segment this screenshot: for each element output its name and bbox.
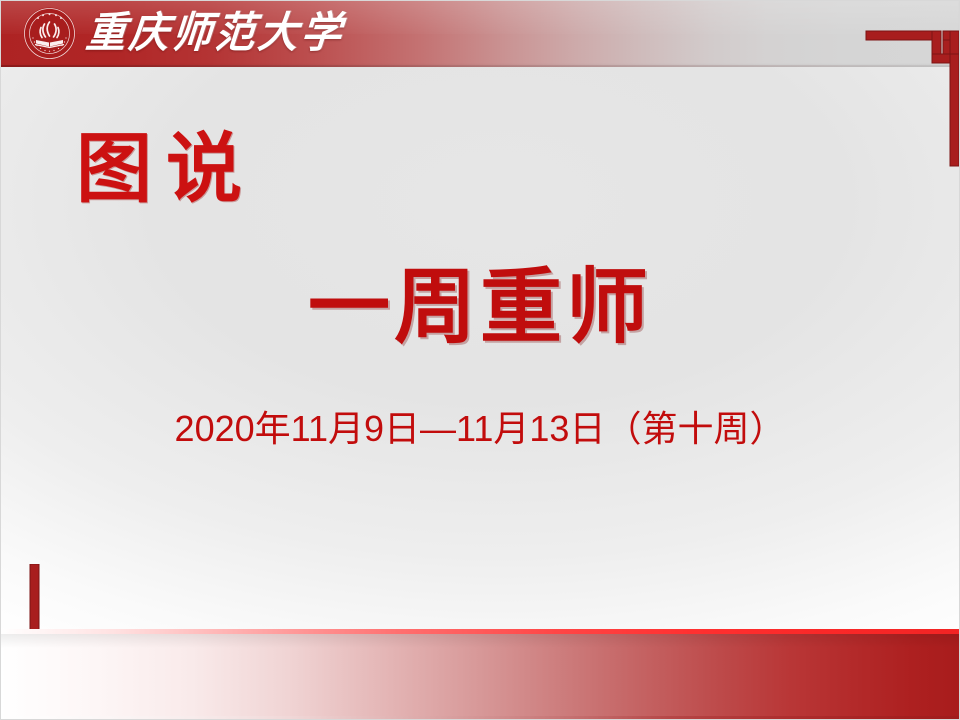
slide-footer-bar [0,629,960,720]
slide-main-title: 一周重师 [0,266,960,348]
slide-date-range: 2020年11月9日—11月13日（第十周） [0,407,960,450]
slide-seal-title: 图说 [76,131,256,207]
footer-base-line [0,716,960,720]
university-name: 重庆师范大学 [83,4,346,61]
footer-shade-overlay [0,634,960,648]
corner-ornament-top-right-icon [864,8,960,168]
presentation-slide: 重庆师范大学 图说 一周重师 2020年11月9日—11月13日（第十周） [0,0,960,720]
university-seal-icon [23,7,76,60]
